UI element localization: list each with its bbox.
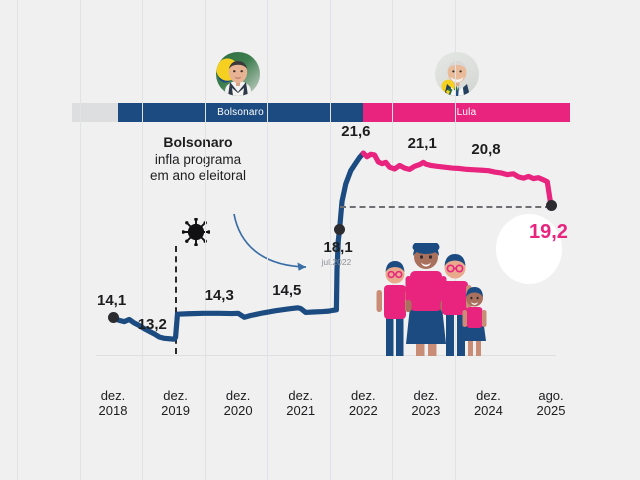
x-tick-year: 2021	[271, 403, 331, 418]
x-tick-year: 2019	[146, 403, 206, 418]
value-label-jul2022: 18,1	[324, 239, 353, 256]
x-tick-month: dez.	[83, 388, 143, 403]
marker-end	[546, 200, 557, 211]
value-label-2019: 13,2	[138, 316, 167, 333]
gridline-2019	[80, 0, 81, 480]
x-tick-year: 2023	[396, 403, 456, 418]
value-label-2024: 20,8	[471, 141, 500, 158]
x-tick-2021: dez.2021	[271, 388, 331, 419]
value-label-peak: 21,6	[341, 123, 370, 140]
x-tick-month: dez.	[458, 388, 518, 403]
x-tick-2019: dez.2019	[146, 388, 206, 419]
marker-start	[108, 312, 119, 323]
x-tick-2024: dez.2024	[458, 388, 518, 419]
x-tick-month: dez.	[271, 388, 331, 403]
gridline-2018	[17, 0, 18, 480]
x-tick-year: 2025	[521, 403, 581, 418]
x-tick-year: 2020	[208, 403, 268, 418]
infographic-canvas: Bolsonaro Lula	[0, 0, 640, 480]
x-tick-month: dez.	[208, 388, 268, 403]
value-label-ago2025: 19,2	[529, 221, 568, 244]
value-label-2020: 14,3	[205, 287, 234, 304]
reference-line-19-2	[340, 206, 551, 208]
x-tick-year: 2022	[333, 403, 393, 418]
x-tick-month: ago.	[521, 388, 581, 403]
x-tick-2020: dez.2020	[208, 388, 268, 419]
value-label-2018: 14,1	[97, 292, 126, 309]
x-tick-year: 2024	[458, 403, 518, 418]
value-label-2021: 14,5	[272, 282, 301, 299]
family-of-four-illustration	[372, 243, 492, 356]
x-tick-month: dez.	[333, 388, 393, 403]
x-tick-month: dez.	[146, 388, 206, 403]
x-tick-2018: dez.2018	[83, 388, 143, 419]
value-label-2023: 21,1	[408, 135, 437, 152]
x-tick-2025: ago.2025	[521, 388, 581, 419]
x-tick-2022: dez.2022	[333, 388, 393, 419]
series-line-lula	[363, 153, 551, 206]
x-tick-year: 2018	[83, 403, 143, 418]
x-tick-month: dez.	[396, 388, 456, 403]
x-tick-2023: dez.2023	[396, 388, 456, 419]
value-sublabel-jul2022: jul.2022	[322, 257, 352, 267]
